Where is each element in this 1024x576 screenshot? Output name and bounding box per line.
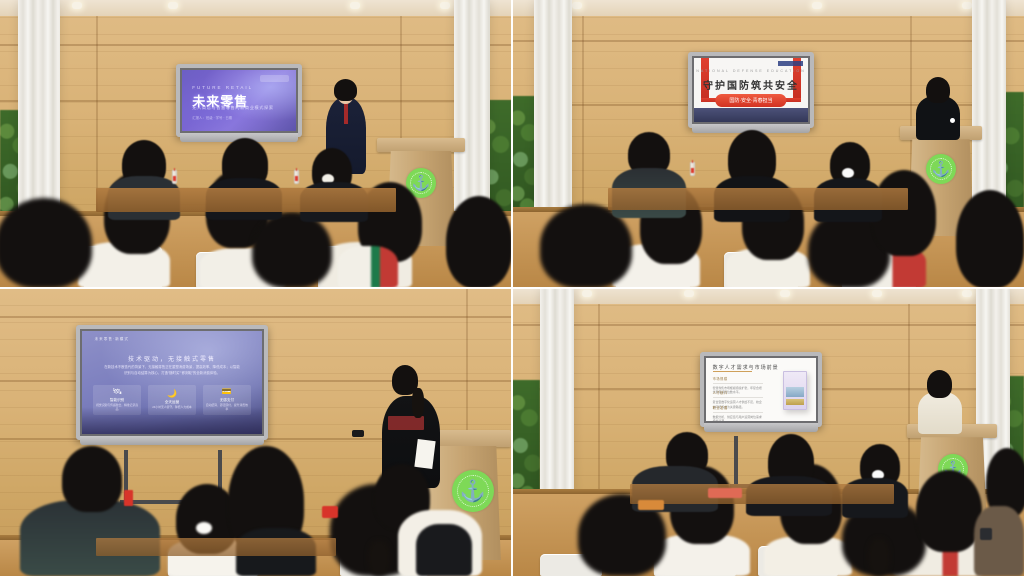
water-bottle — [172, 170, 177, 184]
slide-eyebrow: NATIONAL DEFENSE EDUCATION — [694, 69, 808, 73]
slide-national-defense: NATIONAL DEFENSE EDUCATION 守护国防筑共安全 国防·安… — [694, 58, 808, 122]
wall-seam — [512, 324, 1024, 326]
slide-body: 在新技术不断迭代的背景下，无接触零售正在重塑消费场景，提高效率、降低成本；以智能… — [104, 365, 241, 377]
slide-digital-talent: 数字人才需求与市场前景 市场规模 智慧零售市场规模持续扩张，年复合增长率保持两位… — [706, 358, 816, 421]
ceiling-spotlight — [962, 2, 972, 9]
wall-seam — [512, 40, 1024, 42]
audience-head — [446, 196, 512, 288]
ceiling-spotlight — [582, 290, 592, 297]
front-desk — [630, 484, 894, 504]
slide-tag: 未来零售·新模式 — [95, 337, 129, 342]
screen-chin — [704, 423, 818, 432]
photo-panel-bottom-left: 未来零售·新模式 技术驱动，无接触式零售 在新技术不断迭代的背景下，无接触零售正… — [0, 288, 512, 576]
presenter-ponytail — [412, 388, 424, 418]
water-bottle — [124, 490, 133, 506]
slide-title: 守护国防筑共安全 — [694, 77, 808, 92]
item-text: 数据分析、供应链与用户运营岗位需求增长显著。 — [713, 415, 764, 421]
item-rule — [713, 412, 764, 413]
slide-gradient-overlay — [82, 407, 262, 434]
ceiling — [512, 0, 1024, 16]
item-rule — [713, 397, 764, 398]
front-desk — [96, 188, 396, 212]
wall-panel-line — [598, 288, 600, 508]
hair-tie — [196, 522, 212, 534]
ceiling-spotlight — [812, 2, 822, 9]
audience-body — [338, 246, 398, 288]
card-icon: 🌙 — [167, 390, 177, 398]
item-heading: 人才缺口 — [713, 390, 764, 395]
audience-ponytail — [368, 540, 390, 576]
item-heading: 市场规模 — [713, 376, 764, 381]
photo-panel-bottom-right: 数字人才需求与市场前景 市场规模 智慧零售市场规模持续扩张，年复合增长率保持两位… — [512, 288, 1024, 576]
audience-body — [416, 524, 472, 576]
card-icon: 💳 — [222, 388, 232, 396]
card-icon: 🛰 — [112, 388, 122, 396]
slide-three-column: 未来零售·新模式 技术驱动，无接触式零售 在新技术不断迭代的背景下，无接触零售正… — [82, 331, 262, 434]
audience-head — [62, 446, 122, 512]
logo-ring — [457, 475, 489, 507]
front-desk — [608, 188, 908, 210]
front-desk — [96, 538, 336, 556]
slide-eyebrow: FUTURE RETAIL — [192, 85, 253, 90]
paper-notes — [414, 439, 435, 469]
hoodie-graphic — [388, 416, 424, 430]
photo-panel-top-left: FUTURE RETAIL 未来零售 无人商店与智慧零售的新商业模式探索 汇报人… — [0, 0, 512, 288]
audience-body — [974, 506, 1024, 576]
slide-book-image — [783, 371, 807, 410]
ceiling-spotlight — [168, 2, 178, 9]
slide-future-retail: FUTURE RETAIL 未来零售 无人商店与智慧零售的新商业模式探索 汇报人… — [182, 70, 296, 131]
wall-panel-line — [908, 288, 910, 508]
presenter-hair — [926, 77, 950, 103]
ceiling-spotlight — [72, 2, 82, 9]
slide-item: 职业发展 数据分析、供应链与用户运营岗位需求增长显著。 — [713, 405, 764, 421]
presentation-clicker — [352, 430, 364, 437]
ceiling-spotlight — [684, 290, 694, 297]
ceiling-spotlight — [780, 290, 790, 297]
screen-chin — [80, 436, 264, 445]
audience-head — [956, 190, 1024, 288]
book-cover-band — [786, 399, 805, 405]
book-cover-photo — [786, 387, 805, 397]
slide-badge — [778, 61, 803, 67]
audience-head — [916, 470, 982, 552]
display-screen: NATIONAL DEFENSE EDUCATION 守护国防筑共安全 国防·安… — [688, 52, 814, 128]
pink-object — [708, 488, 742, 498]
audience-ponytail — [868, 538, 890, 576]
item-rule — [713, 383, 764, 384]
audience-head — [0, 198, 92, 288]
plant-wall — [512, 380, 540, 506]
display-screen: FUTURE RETAIL 未来零售 无人商店与智慧零售的新商业模式探索 汇报人… — [176, 64, 302, 137]
jacket-emblem — [950, 118, 955, 123]
slide-footer-band — [694, 108, 808, 122]
wall-seam — [0, 316, 512, 318]
water-bottle — [690, 162, 695, 176]
wall-panel-line — [582, 0, 584, 220]
ceiling-spotlight — [572, 2, 582, 9]
ceiling-spotlight — [440, 2, 450, 9]
orange-object — [638, 500, 664, 510]
photo-panel-top-right: NATIONAL DEFENSE EDUCATION 守护国防筑共安全 国防·安… — [512, 0, 1024, 288]
slide-pill: 国防·安全·青春担当 — [715, 94, 786, 107]
hair-tie — [842, 168, 854, 178]
audience-head — [252, 212, 332, 288]
display-screen: 未来零售·新模式 技术驱动，无接触式零售 在新技术不断迭代的背景下，无接触零售正… — [76, 325, 268, 440]
presenter-body — [918, 392, 962, 434]
slide-heading: 技术驱动，无接触式零售 — [82, 354, 262, 363]
phone — [980, 528, 992, 540]
anchor-logo: ⚓ — [926, 154, 956, 184]
photo-collage-grid: FUTURE RETAIL 未来零售 无人商店与智慧零售的新商业模式探索 汇报人… — [0, 0, 1024, 576]
display-screen: 数字人才需求与市场前景 市场规模 智慧零售市场规模持续扩张，年复合增长率保持两位… — [700, 352, 822, 427]
screen-stand — [734, 436, 738, 486]
ceiling-spotlight — [962, 290, 972, 297]
water-bottle — [294, 170, 299, 184]
anchor-logo: ⚓ — [452, 470, 494, 512]
wall-seam — [0, 44, 512, 46]
ceiling-spotlight — [350, 2, 360, 9]
ceiling-spotlight — [872, 290, 882, 297]
item-heading: 职业发展 — [713, 405, 764, 410]
collage-divider-horizontal — [0, 287, 1024, 289]
red-object — [322, 506, 338, 518]
lectern-top — [377, 138, 464, 152]
slide-subtitle: 无人商店与智慧零售的新商业模式探索 — [192, 105, 273, 111]
slide-rule — [713, 371, 753, 372]
slide-footer: 汇报人：班级 · 学号 · 日期 — [192, 116, 232, 121]
slide-badge — [260, 75, 290, 82]
presenter-hair — [927, 370, 952, 398]
presenter-tie — [344, 102, 348, 124]
presenter-hair — [334, 79, 357, 101]
